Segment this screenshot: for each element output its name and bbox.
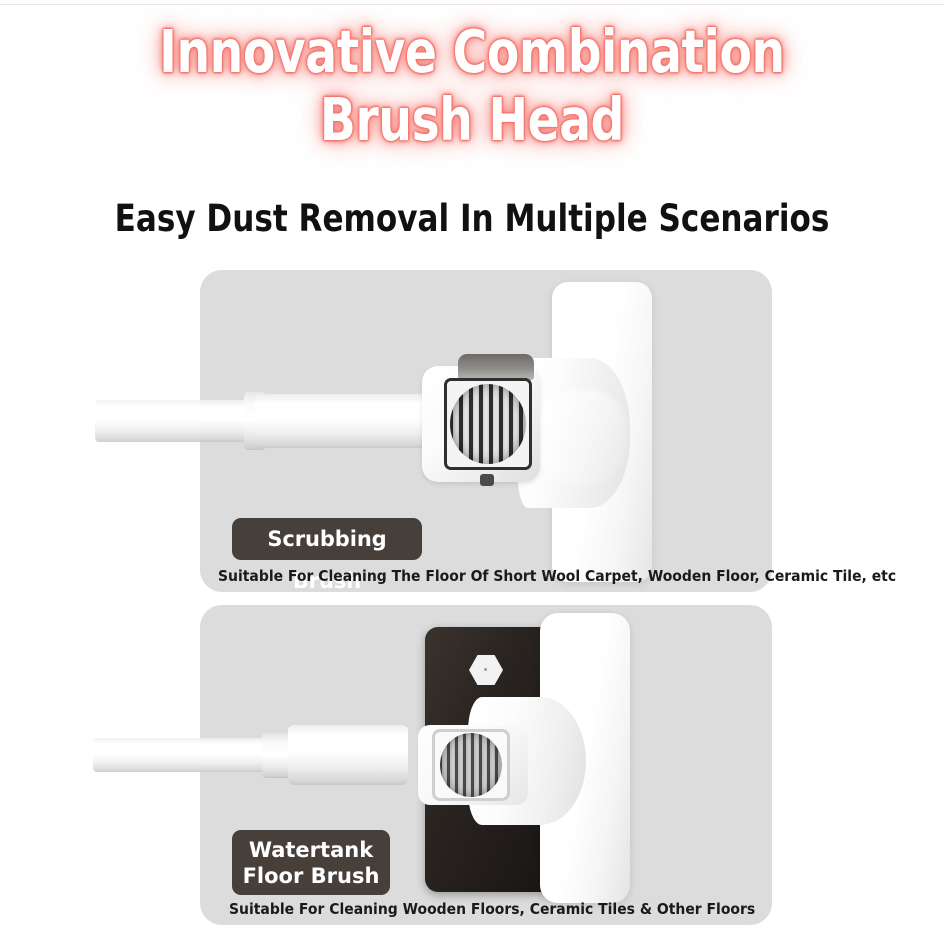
wand-segment-main [288,725,408,785]
wand-segment-thin [200,738,270,772]
wand-segment-main [255,394,440,448]
corrugated-hose [440,733,502,797]
title-line-1: Innovative Combination [94,18,849,86]
page-subtitle: Easy Dust Removal In Multiple Scenarios [76,195,869,243]
page-title: Innovative Combination Brush Head [0,18,944,154]
badge-scrubbing-brush: Scrubbing Brush [232,518,422,560]
plate-highlight [530,390,626,486]
top-divider [0,4,944,5]
swivel-housing-top-clip [458,354,534,380]
corrugated-hose [450,384,526,464]
caption-scrubbing-brush: Suitable For Cleaning The Floor Of Short… [218,567,896,585]
caption-watertank-floor-brush: Suitable For Cleaning Wooden Floors, Cer… [229,900,755,918]
housing-latch-nub [480,474,494,486]
badge-watertank-floor-brush: Watertank Floor Brush [232,830,390,895]
title-line-2: Brush Head [94,86,849,154]
hex-cap-center-dot [484,668,487,671]
badge-line-1: Watertank [232,837,390,863]
badge-line-2: Floor Brush [232,863,390,889]
extension-wand-outside-panel-1 [95,400,203,442]
extension-wand-outside-panel-2 [93,738,205,772]
